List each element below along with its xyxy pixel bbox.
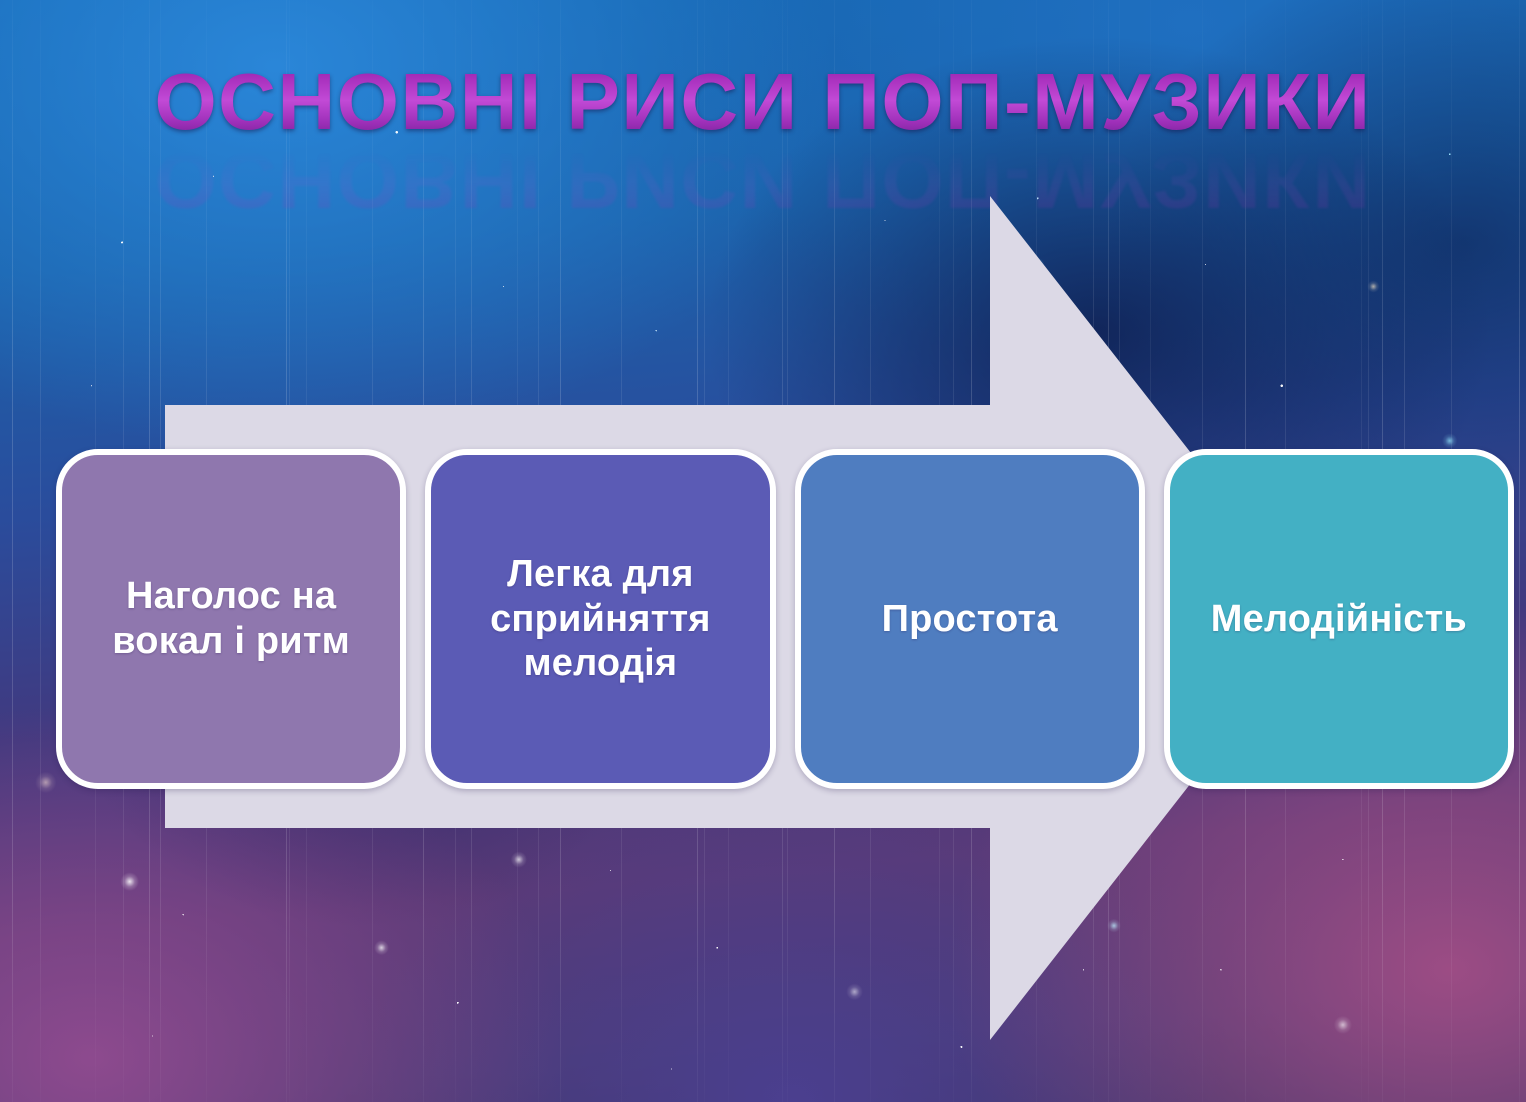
feature-box-4[interactable]: Мелодійність — [1164, 449, 1514, 789]
presentation-slide: ОСНОВНІ РИСИ ПОП-МУЗИКИ ОСНОВНІ РИСИ ПОП… — [0, 0, 1526, 1102]
feature-box-1-label: Наголос на вокал і ритм — [76, 574, 386, 664]
feature-box-3-label: Простота — [882, 597, 1058, 642]
page-title: ОСНОВНІ РИСИ ПОП-МУЗИКИ — [154, 62, 1371, 142]
feature-box-3[interactable]: Простота — [795, 449, 1145, 789]
feature-box-2-label: Легка для сприйняття мелодія — [445, 552, 755, 686]
feature-box-1[interactable]: Наголос на вокал і ритм — [56, 449, 406, 789]
feature-box-2[interactable]: Легка для сприйняття мелодія — [425, 449, 775, 789]
feature-box-row: Наголос на вокал і ритм Легка для сприйн… — [56, 449, 1514, 789]
feature-box-4-label: Мелодійність — [1211, 597, 1467, 642]
page-title-block: ОСНОВНІ РИСИ ПОП-МУЗИКИ — [0, 62, 1526, 142]
